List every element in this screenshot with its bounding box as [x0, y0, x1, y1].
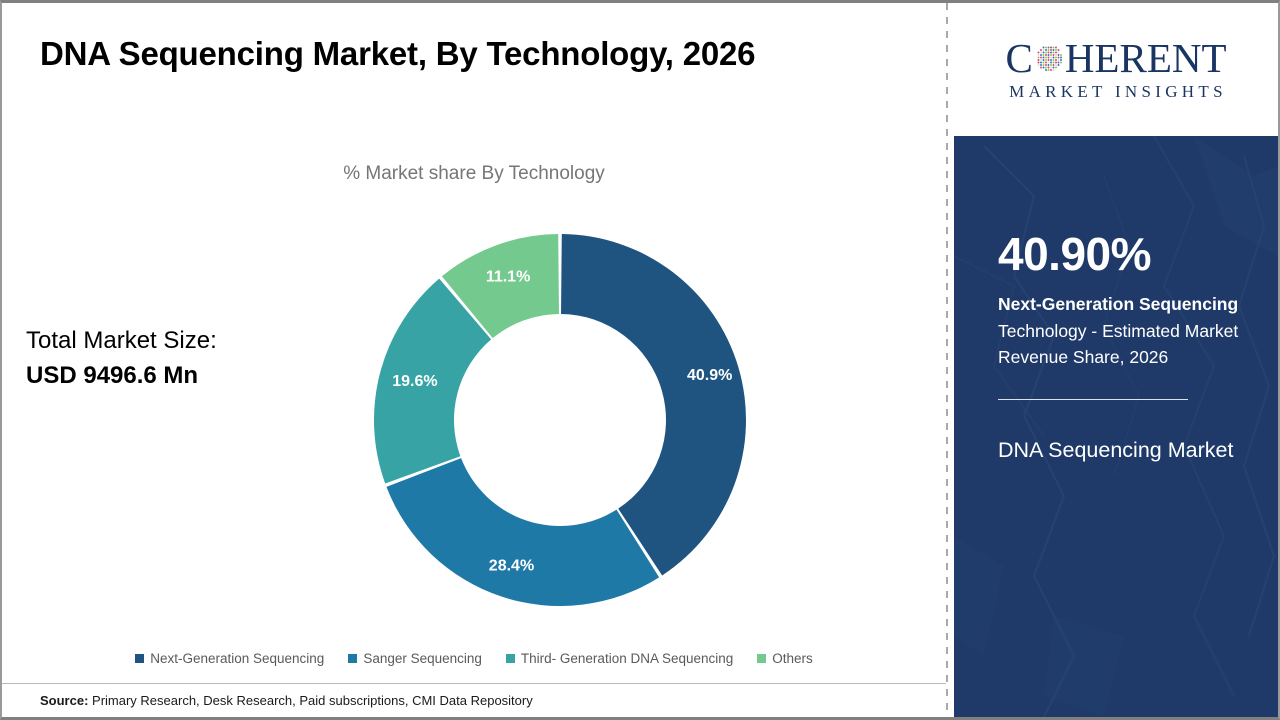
total-market-size-label: Total Market Size: — [26, 326, 217, 357]
globe-dot — [1040, 59, 1042, 61]
globe-dot — [1057, 64, 1059, 66]
panel-divider — [946, 3, 948, 717]
globe-dot — [1050, 49, 1052, 51]
market-name: DNA Sequencing Market — [998, 432, 1254, 470]
source-text: Source: Primary Research, Desk Research,… — [40, 693, 533, 708]
legend-label: Third- Generation DNA Sequencing — [521, 651, 733, 666]
globe-dot — [1047, 64, 1049, 66]
globe-dot — [1040, 57, 1042, 59]
globe-dot — [1050, 54, 1052, 56]
legend-item[interactable]: Sanger Sequencing — [348, 651, 482, 666]
globe-dot — [1047, 49, 1049, 51]
globe-dot — [1050, 62, 1052, 64]
globe-dot — [1055, 47, 1057, 49]
globe-dot — [1055, 59, 1057, 61]
donut-slices — [374, 234, 746, 606]
legend-swatch-icon — [506, 654, 515, 663]
globe-dot — [1045, 54, 1047, 56]
globe-dot — [1052, 67, 1054, 69]
globe-dot — [1040, 62, 1042, 64]
globe-dot — [1042, 67, 1044, 69]
globe-dot — [1042, 57, 1044, 59]
globe-dot — [1057, 54, 1059, 56]
total-market-size-block: Total Market Size: USD 9496.6 Mn — [26, 326, 217, 391]
globe-dot — [1055, 67, 1057, 69]
donut-chart-svg: 40.9%28.4%19.6%11.1% — [373, 233, 747, 607]
headline-percentage: 40.90% — [998, 231, 1254, 277]
panel-body: 40.90% Next-Generation Sequencing Techno… — [954, 136, 1278, 717]
globe-dot — [1050, 64, 1052, 66]
globe-dot — [1060, 59, 1062, 61]
legend-label: Others — [772, 651, 813, 666]
donut-slice-label: 11.1% — [486, 268, 530, 285]
globe-dot — [1045, 52, 1047, 54]
globe-dot — [1057, 49, 1059, 51]
globe-dot — [1037, 57, 1039, 59]
legend-label: Sanger Sequencing — [363, 651, 482, 666]
headline-description-rest: Technology - Estimated Market Revenue Sh… — [998, 321, 1238, 368]
globe-dot — [1045, 49, 1047, 51]
globe-dot — [1040, 54, 1042, 56]
chart-subtitle: % Market share By Technology — [2, 163, 946, 185]
globe-dot — [1045, 62, 1047, 64]
source-detail: Primary Research, Desk Research, Paid su… — [88, 693, 532, 708]
globe-dot — [1040, 52, 1042, 54]
logo-wordmark: C HERENT — [1005, 38, 1226, 79]
globe-dot — [1055, 64, 1057, 66]
globe-dot — [1037, 62, 1039, 64]
globe-dot — [1045, 59, 1047, 61]
legend-item[interactable]: Third- Generation DNA Sequencing — [506, 651, 733, 666]
globe-dot — [1047, 59, 1049, 61]
globe-dot — [1042, 54, 1044, 56]
globe-dot — [1042, 64, 1044, 66]
legend-swatch-icon — [135, 654, 144, 663]
brand-logo: C HERENT MARKET INSIGHTS — [954, 3, 1278, 136]
chart-main-area: DNA Sequencing Market, By Technology, 20… — [2, 3, 946, 717]
logo-letter-c: C — [1005, 38, 1032, 79]
headline-description-bold: Next-Generation Sequencing — [998, 294, 1238, 314]
globe-dot — [1042, 47, 1044, 49]
globe-dot — [1052, 57, 1054, 59]
globe-dot — [1037, 64, 1039, 66]
globe-dot — [1050, 67, 1052, 69]
globe-dot — [1052, 54, 1054, 56]
globe-dot — [1037, 59, 1039, 61]
globe-dot — [1055, 62, 1057, 64]
globe-dot — [1047, 62, 1049, 64]
donut-chart: 40.9%28.4%19.6%11.1% — [373, 233, 747, 607]
headline-description: Next-Generation Sequencing Technology - … — [998, 291, 1254, 371]
panel-content: 40.90% Next-Generation Sequencing Techno… — [998, 231, 1254, 469]
globe-dot — [1055, 57, 1057, 59]
source-label: Source: — [40, 693, 88, 708]
globe-dot — [1052, 69, 1054, 71]
globe-dot — [1042, 59, 1044, 61]
logo-letters-herent: HERENT — [1065, 38, 1227, 79]
globe-dots-icon — [1034, 43, 1064, 73]
legend-label: Next-Generation Sequencing — [150, 651, 324, 666]
panel-divider-rule — [998, 399, 1188, 400]
globe-dot — [1047, 69, 1049, 71]
globe-dot — [1045, 57, 1047, 59]
donut-slice[interactable] — [386, 458, 659, 606]
globe-dot — [1042, 62, 1044, 64]
globe-dot — [1045, 67, 1047, 69]
globe-dot — [1050, 59, 1052, 61]
donut-slice-label: 28.4% — [489, 557, 534, 574]
globe-dot — [1055, 54, 1057, 56]
legend-item[interactable]: Next-Generation Sequencing — [135, 651, 324, 666]
chart-legend: Next-Generation SequencingSanger Sequenc… — [2, 651, 946, 666]
globe-dot — [1055, 52, 1057, 54]
globe-dot — [1060, 62, 1062, 64]
logo-tagline: MARKET INSIGHTS — [1005, 82, 1227, 102]
globe-dot — [1050, 57, 1052, 59]
globe-dot — [1045, 64, 1047, 66]
globe-dot — [1057, 57, 1059, 59]
globe-dot — [1052, 49, 1054, 51]
globe-dot — [1057, 52, 1059, 54]
globe-dot — [1060, 54, 1062, 56]
globe-dot — [1050, 69, 1052, 71]
donut-slice-label: 19.6% — [392, 373, 437, 390]
page-title: DNA Sequencing Market, By Technology, 20… — [40, 35, 755, 73]
right-side-panel: C HERENT MARKET INSIGHTS 40.90% — [954, 3, 1278, 717]
globe-dot — [1050, 52, 1052, 54]
globe-dot — [1047, 47, 1049, 49]
legend-swatch-icon — [348, 654, 357, 663]
globe-dot — [1047, 52, 1049, 54]
source-bar: Source: Primary Research, Desk Research,… — [2, 683, 946, 717]
globe-dot — [1040, 49, 1042, 51]
globe-dot — [1047, 57, 1049, 59]
legend-item[interactable]: Others — [757, 651, 813, 666]
globe-dot — [1037, 54, 1039, 56]
globe-dot — [1052, 47, 1054, 49]
globe-dot — [1057, 59, 1059, 61]
globe-dot — [1052, 59, 1054, 61]
globe-dot — [1045, 47, 1047, 49]
globe-dot — [1042, 49, 1044, 51]
globe-dot — [1040, 64, 1042, 66]
globe-dot — [1060, 57, 1062, 59]
globe-dot — [1050, 47, 1052, 49]
globe-dot — [1057, 62, 1059, 64]
globe-dot — [1037, 52, 1039, 54]
chart-infographic-page: DNA Sequencing Market, By Technology, 20… — [0, 0, 1280, 720]
globe-dot — [1047, 67, 1049, 69]
globe-dot — [1052, 62, 1054, 64]
globe-dot — [1042, 52, 1044, 54]
globe-dot — [1052, 64, 1054, 66]
globe-dot — [1055, 49, 1057, 51]
globe-dot — [1052, 52, 1054, 54]
globe-dot — [1047, 54, 1049, 56]
globe-dot — [1040, 67, 1042, 69]
total-market-size-value: USD 9496.6 Mn — [26, 361, 217, 392]
donut-slice-label: 40.9% — [687, 367, 732, 384]
globe-dot — [1045, 69, 1047, 71]
legend-swatch-icon — [757, 654, 766, 663]
